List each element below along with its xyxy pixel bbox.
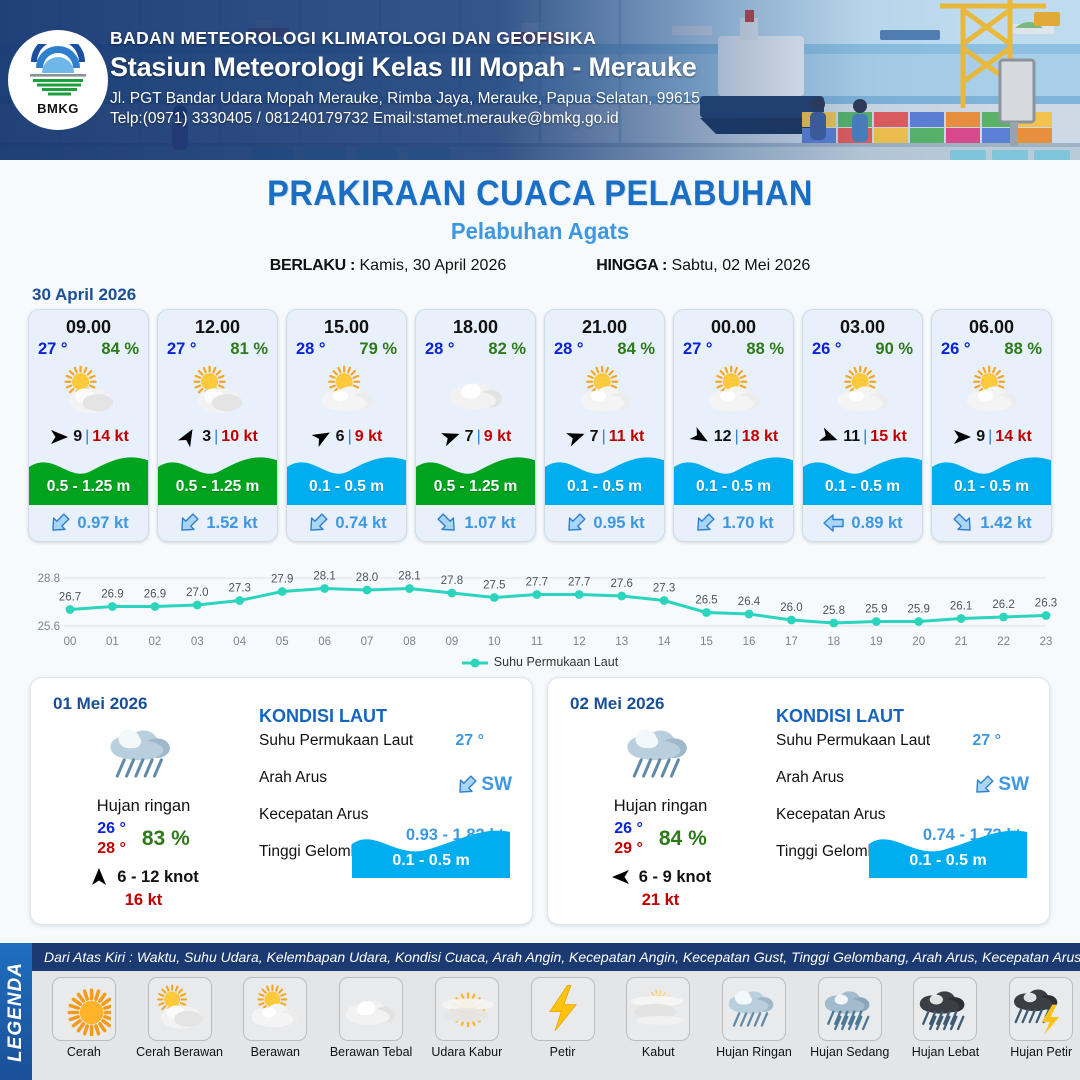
card-current: 1.07 kt xyxy=(416,505,535,541)
card-temperature: 28 ° xyxy=(425,340,455,359)
legend-item-label: Udara Kabur xyxy=(421,1045,513,1059)
wind-separator: | xyxy=(85,428,89,446)
current-direction-arrow xyxy=(301,506,335,540)
bmkg-logo-symbol xyxy=(27,44,89,100)
svg-text:22: 22 xyxy=(997,636,1010,648)
daily-card: 01 Mei 2026 Hujan ringan 26 ° 28 ° 83 % xyxy=(30,677,533,925)
svg-text:25.6: 25.6 xyxy=(38,621,60,633)
card-time: 06.00 xyxy=(932,310,1051,340)
wave-shape xyxy=(932,449,1052,505)
wave-shape xyxy=(416,449,536,505)
svg-text:15: 15 xyxy=(700,636,713,648)
bmkg-logo: BMKG xyxy=(8,30,108,130)
current-direction-indicator: SW xyxy=(455,773,512,797)
legend-item-label: Petir xyxy=(517,1045,609,1059)
card-wave-height: 0.5 - 1.25 m xyxy=(158,478,277,496)
wind-direction-arrow xyxy=(815,423,843,451)
sea-condition-block: KONDISI LAUT Suhu Permukaan Laut 27 ° Ar… xyxy=(776,706,1035,880)
card-humidity: 88 % xyxy=(1004,340,1042,359)
card-humidity: 84 % xyxy=(101,340,139,359)
legend-icon-box xyxy=(52,977,116,1041)
card-wave-height: 0.1 - 0.5 m xyxy=(545,478,664,496)
daily-temp-max: 28 ° xyxy=(97,840,126,858)
legend-icon-box xyxy=(243,977,307,1041)
legend-icon-box xyxy=(435,977,499,1041)
svg-text:25.8: 25.8 xyxy=(823,605,845,617)
daily-temps: 26 ° 29 ° 84 % xyxy=(558,820,763,858)
daily-wave-value: 0.1 - 0.5 m xyxy=(869,852,1027,870)
svg-text:26.4: 26.4 xyxy=(738,596,761,608)
legend-item-label: Berawan xyxy=(229,1045,321,1059)
hujan-lebat-icon xyxy=(918,982,972,1036)
berawan-tebal-icon xyxy=(344,982,398,1036)
svg-text:26.0: 26.0 xyxy=(780,602,802,614)
svg-text:00: 00 xyxy=(64,636,77,648)
daily-temps: 26 ° 28 ° 83 % xyxy=(41,820,246,858)
svg-text:27.9: 27.9 xyxy=(271,574,293,586)
card-current-speed: 0.97 kt xyxy=(77,514,128,533)
sst-label: Suhu Permukaan Laut xyxy=(259,732,413,749)
legend-item: Kabut xyxy=(612,977,704,1059)
card-gust: 18 kt xyxy=(742,428,778,446)
sst-label: Suhu Permukaan Laut xyxy=(776,732,930,749)
title-section: PRAKIRAAN CUACA PELABUHAN Pelabuhan Agat… xyxy=(0,160,1080,275)
svg-text:27.0: 27.0 xyxy=(186,587,208,599)
card-time: 18.00 xyxy=(416,310,535,340)
card-humidity: 81 % xyxy=(230,340,268,359)
current-direction-arrow xyxy=(967,768,1001,802)
card-weather-icon xyxy=(158,361,277,423)
cerah-berawan-icon xyxy=(60,363,118,421)
svg-text:25.9: 25.9 xyxy=(865,604,887,616)
current-direction-arrow xyxy=(946,506,980,540)
card-wind: 12 | 18 kt xyxy=(674,423,793,451)
current-direction-arrow xyxy=(450,768,484,802)
hourly-forecast-row: 09.00 27 ° 84 % 9 | 14 kt 0.5 - 1.25 m xyxy=(0,309,1080,542)
card-time: 09.00 xyxy=(29,310,148,340)
card-current-speed: 0.89 kt xyxy=(851,514,902,533)
card-weather-icon xyxy=(416,361,535,423)
valid-to-value: Sabtu, 02 Mei 2026 xyxy=(671,257,810,274)
daily-wind-range: 6 - 9 knot xyxy=(639,868,711,887)
berawan-icon xyxy=(963,363,1021,421)
legend-note: Dari Atas Kiri : Waktu, Suhu Udara, Kele… xyxy=(32,943,1080,971)
card-wave: 0.1 - 0.5 m xyxy=(545,449,664,505)
card-wave: 0.5 - 1.25 m xyxy=(29,449,148,505)
card-time: 00.00 xyxy=(674,310,793,340)
wave-shape xyxy=(287,449,407,505)
card-current-speed: 1.52 kt xyxy=(206,514,257,533)
wind-direction-arrow xyxy=(951,426,973,448)
current-direction-arrow xyxy=(430,506,464,540)
wave-shape xyxy=(803,449,923,505)
berawan-tebal-icon xyxy=(447,363,505,421)
hourly-card: 06.00 26 ° 88 % 9 | 14 kt 0.1 - 0.5 m xyxy=(931,309,1052,542)
card-weather-icon xyxy=(287,361,406,423)
current-direction-arrow xyxy=(688,506,722,540)
legend-icon-box xyxy=(626,977,690,1041)
legend-side-bar: LEGENDA xyxy=(0,943,32,1080)
svg-text:26.9: 26.9 xyxy=(144,589,166,601)
card-gust: 10 kt xyxy=(221,428,257,446)
cerah-berawan-icon xyxy=(189,363,247,421)
card-current-speed: 1.42 kt xyxy=(980,514,1031,533)
legend-item-label: Berawan Tebal xyxy=(325,1045,417,1059)
card-wave-height: 0.1 - 0.5 m xyxy=(803,478,922,496)
card-current: 0.89 kt xyxy=(803,505,922,541)
card-wave: 0.5 - 1.25 m xyxy=(416,449,535,505)
card-wind: 6 | 9 kt xyxy=(287,423,406,451)
legend-item: Petir xyxy=(517,977,609,1059)
petir-icon xyxy=(536,982,590,1036)
card-temp-humidity: 28 ° 79 % xyxy=(287,340,406,361)
svg-text:18: 18 xyxy=(827,636,840,648)
card-wave-height: 0.1 - 0.5 m xyxy=(674,478,793,496)
daily-wind: 6 - 9 knot xyxy=(558,866,763,888)
card-current: 0.97 kt xyxy=(29,505,148,541)
bmkg-logo-text: BMKG xyxy=(37,101,79,116)
card-time: 21.00 xyxy=(545,310,664,340)
daily-left-block: Hujan ringan 26 ° 29 ° 84 % 6 - 9 knot 2… xyxy=(558,718,763,910)
svg-text:04: 04 xyxy=(233,636,246,648)
card-wave: 0.1 - 0.5 m xyxy=(932,449,1051,505)
card-wave: 0.1 - 0.5 m xyxy=(287,449,406,505)
cerah-berawan-icon xyxy=(153,982,207,1036)
sst-row: Suhu Permukaan Laut 27 ° xyxy=(259,732,518,769)
svg-text:27.7: 27.7 xyxy=(568,577,590,589)
svg-text:27.5: 27.5 xyxy=(483,580,505,592)
card-current-speed: 0.74 kt xyxy=(335,514,386,533)
valid-from-label: BERLAKU : xyxy=(270,257,355,274)
hourly-card: 21.00 28 ° 84 % 7 | 11 kt 0.1 - 0.5 m xyxy=(544,309,665,542)
card-current: 1.52 kt xyxy=(158,505,277,541)
legend-icon-box xyxy=(531,977,595,1041)
card-wind: 9 | 14 kt xyxy=(932,423,1051,451)
legend-item-label: Cerah Berawan xyxy=(134,1045,226,1059)
hourly-card: 15.00 28 ° 79 % 6 | 9 kt 0.1 - 0.5 m xyxy=(286,309,407,542)
validity-row: BERLAKU : Kamis, 30 April 2026 HINGGA : … xyxy=(0,257,1080,275)
chart-legend-label: Suhu Permukaan Laut xyxy=(494,655,618,669)
wind-separator: | xyxy=(214,428,218,446)
card-wave-height: 0.1 - 0.5 m xyxy=(932,478,1051,496)
card-weather-icon xyxy=(932,361,1051,423)
svg-text:07: 07 xyxy=(361,636,374,648)
legend-item: Cerah xyxy=(38,977,130,1059)
wind-separator: | xyxy=(348,428,352,446)
current-direction-indicator: SW xyxy=(972,773,1029,797)
daily-gust: 16 kt xyxy=(41,891,246,910)
legend-item-label: Hujan Petir xyxy=(995,1045,1080,1059)
valid-from-value: Kamis, 30 April 2026 xyxy=(360,257,507,274)
legend-footer: LEGENDA Dari Atas Kiri : Waktu, Suhu Uda… xyxy=(0,943,1080,1080)
svg-text:12: 12 xyxy=(573,636,586,648)
svg-text:13: 13 xyxy=(615,636,628,648)
svg-text:27.3: 27.3 xyxy=(653,583,675,595)
card-wind-direction: 12 xyxy=(714,428,732,446)
svg-text:03: 03 xyxy=(191,636,204,648)
wind-direction-arrow xyxy=(88,866,110,888)
svg-text:25.9: 25.9 xyxy=(908,604,930,616)
daily-temp-min: 26 ° xyxy=(614,820,643,838)
card-weather-icon xyxy=(29,361,148,423)
current-direction-row: Arah Arus SW xyxy=(776,769,1035,806)
current-direction-label: Arah Arus xyxy=(259,769,327,786)
agency-name: BADAN METEOROLOGI KLIMATOLOGI DAN GEOFIS… xyxy=(110,28,700,49)
daily-date: 01 Mei 2026 xyxy=(53,694,148,714)
card-temperature: 26 ° xyxy=(941,340,971,359)
legend-item: Hujan Ringan xyxy=(708,977,800,1059)
hourly-card: 00.00 27 ° 88 % 12 | 18 kt 0.1 - 0.5 m xyxy=(673,309,794,542)
wind-separator: | xyxy=(863,428,867,446)
card-temp-humidity: 26 ° 90 % xyxy=(803,340,922,361)
svg-text:26.3: 26.3 xyxy=(1035,598,1057,610)
cerah-icon xyxy=(57,982,111,1036)
legend-side-label: LEGENDA xyxy=(5,962,27,1062)
card-gust: 14 kt xyxy=(995,428,1031,446)
wind-direction-arrow xyxy=(562,423,590,451)
card-temperature: 27 ° xyxy=(167,340,197,359)
hujan-ringan-icon xyxy=(108,718,180,790)
card-wave: 0.1 - 0.5 m xyxy=(803,449,922,505)
hujan-sedang-icon xyxy=(823,982,877,1036)
card-humidity: 84 % xyxy=(617,340,655,359)
wind-direction-arrow xyxy=(610,866,632,888)
svg-text:17: 17 xyxy=(785,636,798,648)
chart-legend-marker xyxy=(462,657,488,667)
wind-direction-arrow xyxy=(173,422,203,452)
wave-shape xyxy=(158,449,278,505)
wind-direction-arrow xyxy=(48,426,70,448)
card-wind: 9 | 14 kt xyxy=(29,423,148,451)
daily-wave-value: 0.1 - 0.5 m xyxy=(352,852,510,870)
card-wave: 0.5 - 1.25 m xyxy=(158,449,277,505)
current-speed-label: Kecepatan Arus xyxy=(776,806,885,823)
daily-humidity: 83 % xyxy=(142,827,190,851)
current-direction-arrow xyxy=(43,506,77,540)
sst-row: Suhu Permukaan Laut 27 ° xyxy=(776,732,1035,769)
sea-condition-title: KONDISI LAUT xyxy=(776,706,1035,727)
svg-text:14: 14 xyxy=(658,636,671,648)
card-time: 03.00 xyxy=(803,310,922,340)
wind-direction-arrow xyxy=(437,423,465,451)
legend-icon-box xyxy=(818,977,882,1041)
legend-item: Hujan Lebat xyxy=(899,977,991,1059)
daily-wave-graphic: 0.1 - 0.5 m xyxy=(352,824,510,878)
legend-icon-box xyxy=(913,977,977,1041)
legend-item-label: Cerah xyxy=(38,1045,130,1059)
card-current-speed: 1.70 kt xyxy=(722,514,773,533)
card-time: 15.00 xyxy=(287,310,406,340)
card-current: 0.95 kt xyxy=(545,505,664,541)
card-weather-icon xyxy=(545,361,664,423)
sea-condition-title: KONDISI LAUT xyxy=(259,706,518,727)
svg-text:02: 02 xyxy=(149,636,162,648)
current-direction-arrow xyxy=(172,506,206,540)
hujan-ringan-icon xyxy=(625,718,697,790)
daily-condition: Hujan ringan xyxy=(558,797,763,816)
daily-date: 02 Mei 2026 xyxy=(570,694,665,714)
header-text-block: BADAN METEOROLOGI KLIMATOLOGI DAN GEOFIS… xyxy=(110,28,700,128)
svg-text:09: 09 xyxy=(446,636,459,648)
card-current-speed: 0.95 kt xyxy=(593,514,644,533)
card-humidity: 82 % xyxy=(488,340,526,359)
kabut-icon xyxy=(631,982,685,1036)
legend-icon-box xyxy=(722,977,786,1041)
wind-separator: | xyxy=(988,428,992,446)
svg-text:27.8: 27.8 xyxy=(441,575,463,587)
svg-text:01: 01 xyxy=(106,636,119,648)
station-contact: Telp:(0971) 3330405 / 081240179732 Email… xyxy=(110,110,700,128)
svg-text:11: 11 xyxy=(531,636,543,648)
svg-text:06: 06 xyxy=(318,636,331,648)
svg-text:20: 20 xyxy=(912,636,925,648)
berawan-icon xyxy=(318,363,376,421)
daily-temp-min: 26 ° xyxy=(97,820,126,838)
legend-item-label: Hujan Sedang xyxy=(804,1045,896,1059)
card-current-speed: 1.07 kt xyxy=(464,514,515,533)
berawan-icon xyxy=(576,363,634,421)
daily-wave-graphic: 0.1 - 0.5 m xyxy=(869,824,1027,878)
card-wind-direction: 3 xyxy=(202,428,211,446)
card-wind: 3 | 10 kt xyxy=(158,423,277,451)
svg-text:26.7: 26.7 xyxy=(59,592,81,604)
svg-text:21: 21 xyxy=(955,636,968,648)
card-wind-direction: 7 xyxy=(590,428,599,446)
daily-weather-icon xyxy=(41,718,246,795)
wind-separator: | xyxy=(735,428,739,446)
card-temp-humidity: 28 ° 84 % xyxy=(545,340,664,361)
current-direction-arrow xyxy=(559,506,593,540)
card-wave-height: 0.1 - 0.5 m xyxy=(287,478,406,496)
card-temp-humidity: 28 ° 82 % xyxy=(416,340,535,361)
legend-item: Hujan Petir xyxy=(995,977,1080,1059)
svg-text:08: 08 xyxy=(403,636,416,648)
card-temp-humidity: 27 ° 84 % xyxy=(29,340,148,361)
card-gust: 14 kt xyxy=(92,428,128,446)
legend-body: Dari Atas Kiri : Waktu, Suhu Udara, Kele… xyxy=(32,943,1080,1080)
svg-text:05: 05 xyxy=(276,636,289,648)
card-gust: 11 kt xyxy=(609,428,645,446)
card-wind-direction: 6 xyxy=(336,428,345,446)
daily-humidity: 84 % xyxy=(659,827,707,851)
chart-legend: Suhu Permukaan Laut xyxy=(0,655,1080,669)
card-wind-direction: 9 xyxy=(976,428,985,446)
daily-weather-icon xyxy=(558,718,763,795)
page-header: BMKG BADAN METEOROLOGI KLIMATOLOGI DAN G… xyxy=(0,0,1080,160)
card-time: 12.00 xyxy=(158,310,277,340)
svg-text:28.8: 28.8 xyxy=(38,573,60,585)
svg-text:23: 23 xyxy=(1040,636,1053,648)
legend-item-label: Hujan Lebat xyxy=(899,1045,991,1059)
card-temperature: 28 ° xyxy=(296,340,326,359)
card-wind: 11 | 15 kt xyxy=(803,423,922,451)
card-temperature: 27 ° xyxy=(38,340,68,359)
daily-condition: Hujan ringan xyxy=(41,797,246,816)
card-current: 1.70 kt xyxy=(674,505,793,541)
sea-condition-block: KONDISI LAUT Suhu Permukaan Laut 27 ° Ar… xyxy=(259,706,518,880)
svg-text:19: 19 xyxy=(870,636,883,648)
card-gust: 15 kt xyxy=(870,428,906,446)
current-direction-value: SW xyxy=(481,774,512,796)
wave-shape xyxy=(674,449,794,505)
legend-item: Hujan Sedang xyxy=(804,977,896,1059)
legend-item: Berawan xyxy=(229,977,321,1059)
hujan-petir-icon xyxy=(1014,982,1068,1036)
card-humidity: 88 % xyxy=(746,340,784,359)
daily-temp-max: 29 ° xyxy=(614,840,643,858)
card-current: 0.74 kt xyxy=(287,505,406,541)
hourly-card: 09.00 27 ° 84 % 9 | 14 kt 0.5 - 1.25 m xyxy=(28,309,149,542)
card-wave: 0.1 - 0.5 m xyxy=(674,449,793,505)
wind-separator: | xyxy=(477,428,481,446)
legend-icon-box xyxy=(1009,977,1073,1041)
wave-shape xyxy=(29,449,149,505)
current-direction-label: Arah Arus xyxy=(776,769,844,786)
card-wind-direction: 7 xyxy=(465,428,474,446)
valid-from: BERLAKU : Kamis, 30 April 2026 xyxy=(270,257,507,275)
page-title: PRAKIRAAN CUACA PELABUHAN xyxy=(38,174,1042,214)
card-temperature: 26 ° xyxy=(812,340,842,359)
port-name: Pelabuhan Agats xyxy=(22,218,1059,245)
card-temp-humidity: 27 ° 81 % xyxy=(158,340,277,361)
card-wave-height: 0.5 - 1.25 m xyxy=(29,478,148,496)
current-speed-label: Kecepatan Arus xyxy=(259,806,368,823)
wind-direction-arrow xyxy=(685,422,715,452)
card-humidity: 90 % xyxy=(875,340,913,359)
valid-to: HINGGA : Sabtu, 02 Mei 2026 xyxy=(596,257,810,275)
forecast-day-label: 30 April 2026 xyxy=(32,285,1080,305)
card-humidity: 79 % xyxy=(359,340,397,359)
card-wind-direction: 9 xyxy=(73,428,82,446)
daily-left-block: Hujan ringan 26 ° 28 ° 83 % 6 - 12 knot … xyxy=(41,718,246,910)
berawan-icon xyxy=(705,363,763,421)
card-wind: 7 | 11 kt xyxy=(545,423,664,451)
svg-text:27.3: 27.3 xyxy=(229,583,251,595)
card-gust: 9 kt xyxy=(355,428,383,446)
svg-text:28.1: 28.1 xyxy=(398,571,420,583)
current-direction-arrow xyxy=(822,511,846,535)
legend-item: Udara Kabur xyxy=(421,977,513,1059)
daily-forecast-row: 01 Mei 2026 Hujan ringan 26 ° 28 ° 83 % xyxy=(0,669,1080,925)
legend-item-label: Hujan Ringan xyxy=(708,1045,800,1059)
svg-text:28.0: 28.0 xyxy=(356,572,378,584)
card-wave-height: 0.5 - 1.25 m xyxy=(416,478,535,496)
sst-value: 27 ° xyxy=(972,732,1001,750)
legend-items: Cerah Cerah Berawan Berawan Berawan Teba… xyxy=(32,971,1080,1059)
card-temp-humidity: 26 ° 88 % xyxy=(932,340,1051,361)
legend-item-label: Kabut xyxy=(612,1045,704,1059)
sst-value: 27 ° xyxy=(455,732,484,750)
card-current: 1.42 kt xyxy=(932,505,1051,541)
card-wind-direction: 11 xyxy=(843,428,860,446)
hourly-card: 03.00 26 ° 90 % 11 | 15 kt 0.1 - 0.5 m xyxy=(802,309,923,542)
card-weather-icon xyxy=(803,361,922,423)
daily-wind: 6 - 12 knot xyxy=(41,866,246,888)
svg-text:10: 10 xyxy=(488,636,501,648)
legend-item: Cerah Berawan xyxy=(134,977,226,1059)
svg-text:16: 16 xyxy=(743,636,756,648)
card-temperature: 27 ° xyxy=(683,340,713,359)
udara-kabur-icon xyxy=(440,982,494,1036)
station-name: Stasiun Meteorologi Kelas III Mopah - Me… xyxy=(110,52,700,83)
svg-text:28.1: 28.1 xyxy=(313,571,335,583)
station-address: Jl. PGT Bandar Udara Mopah Merauke, Rimb… xyxy=(110,90,700,108)
sst-chart-svg: 28.825.626.70026.90126.90227.00327.30427… xyxy=(22,552,1058,652)
legend-icon-box xyxy=(339,977,403,1041)
hourly-card: 18.00 28 ° 82 % 7 | 9 kt 0.5 - 1.25 m xyxy=(415,309,536,542)
svg-text:27.7: 27.7 xyxy=(526,577,548,589)
sst-chart: 28.825.626.70026.90126.90227.00327.30427… xyxy=(22,552,1058,657)
